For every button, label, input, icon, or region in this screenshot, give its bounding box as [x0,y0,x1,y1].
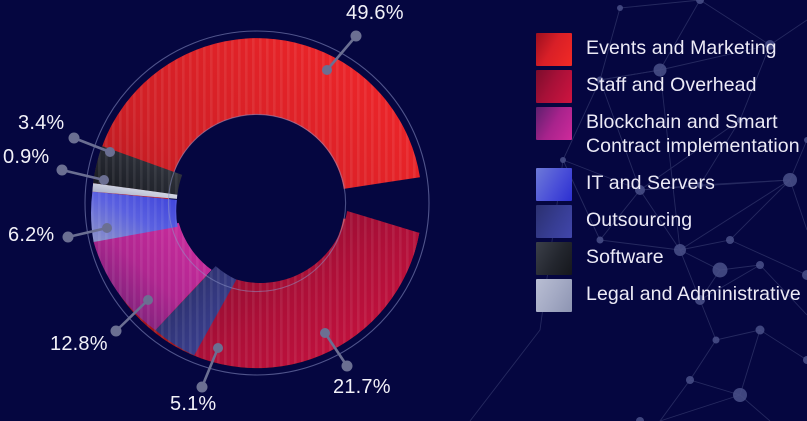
callout-label-legal-and-administrative: 0.9% [3,146,49,169]
legend-swatch-icon [536,33,572,66]
legend-swatch-icon [536,70,572,103]
legend-item-blockchain-and-smart-contract[interactable]: Blockchain and Smart Contract implementa… [536,107,807,158]
legend-item-software[interactable]: Software [536,242,807,275]
legend-item-label: IT and Servers [586,168,715,195]
legend-item-outsourcing[interactable]: Outsourcing [536,205,807,238]
legend-item-label: Outsourcing [586,205,692,232]
legend-item-staff-and-overhead[interactable]: Staff and Overhead [536,70,807,103]
callout-label-software: 3.4% [18,112,64,135]
chart-legend: Events and Marketing Staff and Overhead … [536,33,807,316]
legend-item-legal-and-administrative[interactable]: Legal and Administrative [536,279,807,312]
callout-label-events-and-marketing: 49.6% [346,2,404,25]
legend-swatch-icon [536,168,572,201]
legend-swatch-icon [536,279,572,312]
callout-label-staff-and-overhead: 21.7% [333,376,391,399]
legend-item-events-and-marketing[interactable]: Events and Marketing [536,33,807,66]
callout-label-blockchain-and-smart-contract: 12.8% [50,333,108,356]
callout-label-outsourcing: 5.1% [170,393,216,416]
legend-swatch-icon [536,107,572,140]
legend-swatch-icon [536,205,572,238]
legend-item-it-and-servers[interactable]: IT and Servers [536,168,807,201]
legend-swatch-icon [536,242,572,275]
chart-canvas: 49.6% 21.7% 12.8% 5.1% 6.2% 0.9% 3.4% Ev… [0,0,807,421]
donut-segments [91,38,420,368]
legend-item-label: Blockchain and Smart Contract implementa… [586,107,800,158]
legend-item-label: Staff and Overhead [586,70,757,97]
callout-label-it-and-servers: 6.2% [8,224,54,247]
donut-chart [0,0,520,421]
legend-item-label: Events and Marketing [586,33,777,60]
legend-item-label: Software [586,242,664,269]
legend-item-label: Legal and Administrative [586,279,801,306]
